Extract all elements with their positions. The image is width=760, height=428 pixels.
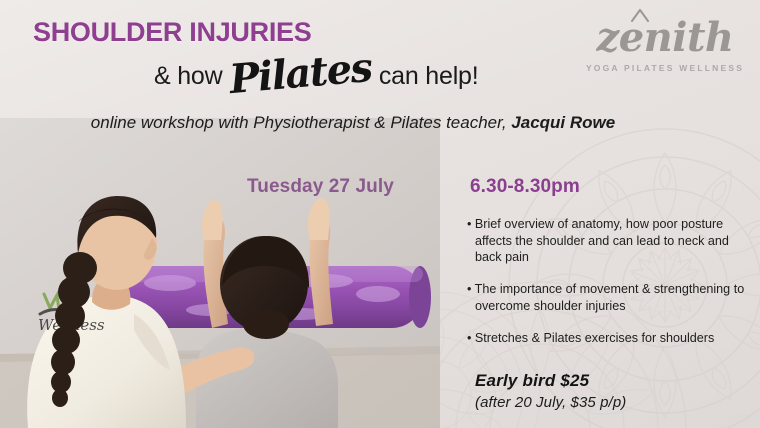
headline-secondary: & how Pilates can help!	[0, 47, 600, 94]
headline-primary: SHOULDER INJURIES	[0, 18, 600, 46]
presenter-name: Jacqui Rowe	[511, 113, 615, 132]
logo-wordmark: zenith	[584, 18, 746, 58]
logo-tagline: YOGA PILATES WELLNESS	[584, 63, 746, 73]
workshop-date: Tuesday 27 July	[247, 176, 470, 198]
list-item: • Stretches & Pilates exercises for shou…	[467, 330, 749, 347]
photo-illustration: Wellness	[0, 118, 440, 428]
pricing-block: Early bird $25 (after 20 July, $35 p/p)	[475, 371, 755, 411]
headline-and-how: & how	[154, 62, 222, 91]
headline-pilates-script: Pilates	[228, 44, 374, 103]
schedule-block: Tuesday 27 July 6.30-8.30pm	[247, 176, 647, 198]
list-item: • The importance of movement & strengthe…	[467, 281, 749, 314]
list-item: • Brief overview of anatomy, how poor po…	[467, 216, 749, 266]
workshop-photo: Wellness	[0, 118, 440, 428]
logo-word-text: zenith	[597, 14, 734, 61]
headline-block: SHOULDER INJURIES & how Pilates can help…	[0, 18, 600, 94]
agenda-list: • Brief overview of anatomy, how poor po…	[467, 216, 749, 346]
subtitle-text: online workshop with Physiotherapist & P…	[91, 113, 512, 132]
schedule-row: Tuesday 27 July 6.30-8.30pm	[247, 176, 647, 198]
headline-can-help: can help!	[379, 62, 479, 91]
workshop-time: 6.30-8.30pm	[470, 176, 580, 198]
workshop-subtitle: online workshop with Physiotherapist & P…	[0, 113, 760, 133]
standard-price: (after 20 July, $35 p/p)	[475, 394, 755, 411]
zenith-logo: zenith YOGA PILATES WELLNESS	[584, 18, 746, 73]
early-bird-price: Early bird $25	[475, 371, 755, 391]
mountain-peak-icon	[631, 9, 649, 22]
promo-poster: Wellness	[0, 0, 760, 428]
